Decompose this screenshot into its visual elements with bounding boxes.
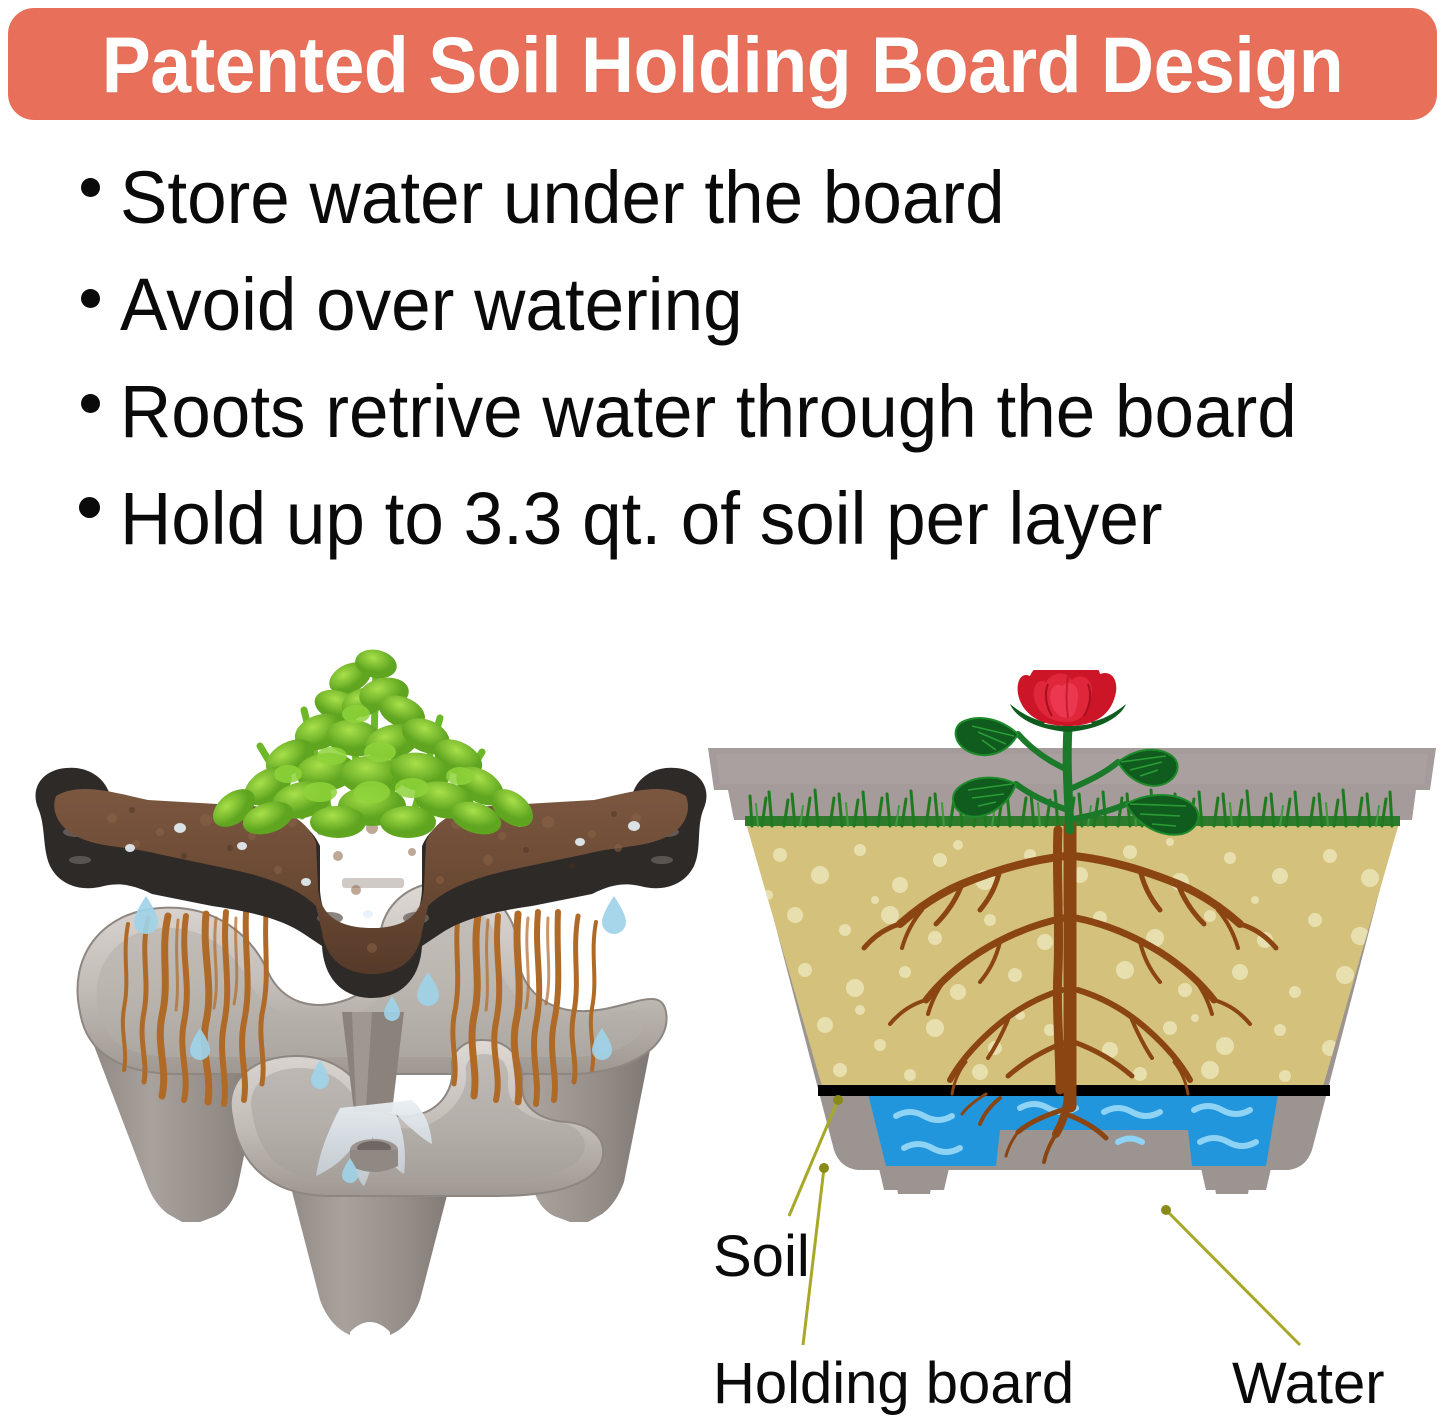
bullet-text: Roots retrive water through the board [120, 364, 1297, 460]
plant-foliage [206, 646, 540, 840]
bullet-dot-icon [44, 364, 100, 413]
bullet-dot-icon [44, 257, 100, 308]
infographic-page: Patented Soil Holding Board Design Store… [0, 0, 1445, 1423]
bullet-dot-icon [44, 150, 100, 197]
feature-bullet-list: Store water under the board Avoid over w… [0, 150, 1445, 578]
bullet-dot-icon [44, 471, 100, 518]
bullet-text: Hold up to 3.3 qt. of soil per layer [120, 471, 1163, 567]
list-item: Roots retrive water through the board [0, 364, 1445, 471]
bullet-text: Avoid over watering [120, 257, 743, 353]
rose-flower-icon [1018, 670, 1117, 726]
list-item: Avoid over watering [0, 257, 1445, 364]
cross-section-diagram [700, 670, 1445, 1270]
figures-area [0, 560, 1445, 1423]
header-banner: Patented Soil Holding Board Design [8, 8, 1437, 120]
product-photo-stacked-planter [20, 560, 720, 1360]
callout-label-water: Water [1232, 1355, 1385, 1413]
bullet-text: Store water under the board [120, 150, 1005, 246]
page-title: Patented Soil Holding Board Design [102, 25, 1343, 104]
callout-label-holding-board: Holding board [713, 1355, 1074, 1413]
list-item: Store water under the board [0, 150, 1445, 257]
callout-label-soil: Soil [713, 1228, 810, 1286]
